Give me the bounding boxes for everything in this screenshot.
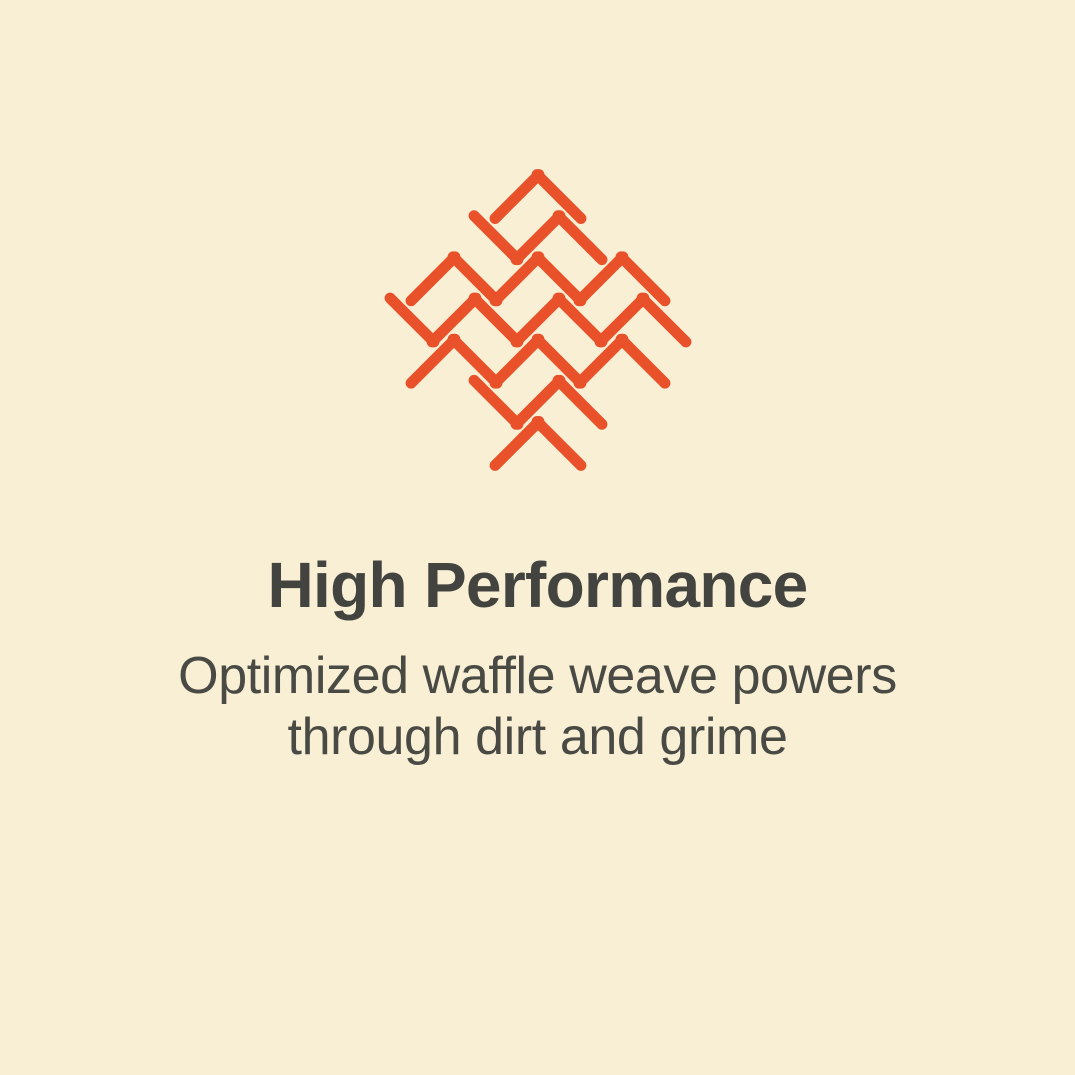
feature-subtitle: Optimized waffle weave powers through di…	[123, 620, 953, 769]
feature-card: High Performance Optimized waffle weave …	[0, 0, 1075, 1075]
weave-stroke	[537, 422, 581, 466]
feature-icon-container	[0, 140, 1075, 500]
feature-title: High Performance	[60, 552, 1015, 620]
weave-stroke	[411, 257, 455, 301]
weave-stroke	[621, 339, 665, 383]
weave-stroke	[495, 175, 539, 219]
feature-text-block: High Performance Optimized waffle weave …	[0, 552, 1075, 769]
waffle-weave-icon	[358, 140, 718, 500]
feature-subtitle-line-1: Optimized waffle weave powers	[178, 647, 897, 705]
feature-subtitle-line-2: through dirt and grime	[288, 708, 788, 766]
